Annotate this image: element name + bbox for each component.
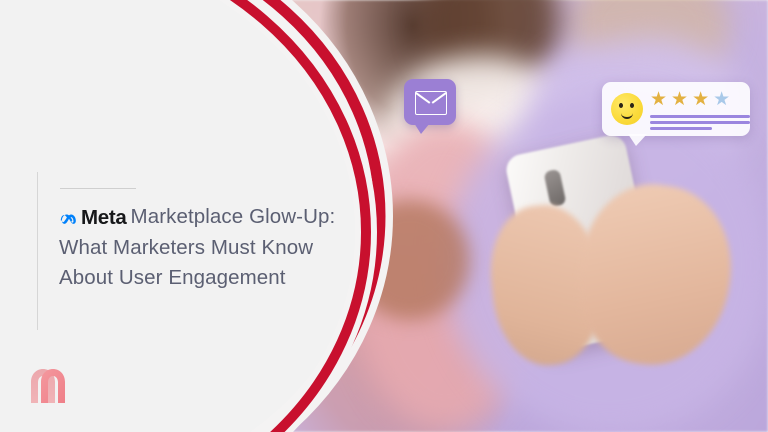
smiley-eye-left — [619, 103, 623, 108]
title-top-rule — [60, 188, 136, 189]
star-icon-2: ★ — [671, 90, 688, 109]
meta-infinity-icon — [59, 211, 79, 225]
m-brand-logo[interactable] — [27, 365, 69, 405]
meta-logo: Meta — [59, 203, 127, 233]
review-line-2 — [650, 121, 750, 124]
star-icon-4: ★ — [713, 90, 730, 109]
smiley-face-icon — [611, 93, 643, 125]
vertical-divider — [37, 172, 38, 330]
smiley-mouth — [621, 110, 633, 119]
star-icon-3: ★ — [692, 90, 709, 109]
title-line-2: What Marketers Must Know — [59, 236, 313, 259]
envelope-icon — [415, 91, 447, 115]
title-line-1: Marketplace Glow-Up: — [131, 205, 336, 228]
review-line-3 — [650, 127, 712, 130]
photo-background-hand — [350, 200, 470, 320]
banner-canvas: ★ ★ ★ ★ Meta Marketplace Glow-Up: What M… — [0, 0, 768, 432]
review-text-lines — [650, 115, 750, 133]
star-icon-1: ★ — [650, 90, 667, 109]
star-rating: ★ ★ ★ ★ — [650, 90, 730, 109]
smiley-eye-right — [630, 103, 634, 108]
review-line-1 — [650, 115, 750, 118]
meta-wordmark: Meta — [81, 203, 127, 233]
mail-notification-bubble[interactable] — [404, 79, 456, 125]
title-line-3: About User Engagement — [59, 266, 286, 289]
review-notification-card[interactable]: ★ ★ ★ ★ — [602, 82, 750, 136]
page-title: Meta Marketplace Glow-Up: What Marketers… — [59, 202, 349, 293]
